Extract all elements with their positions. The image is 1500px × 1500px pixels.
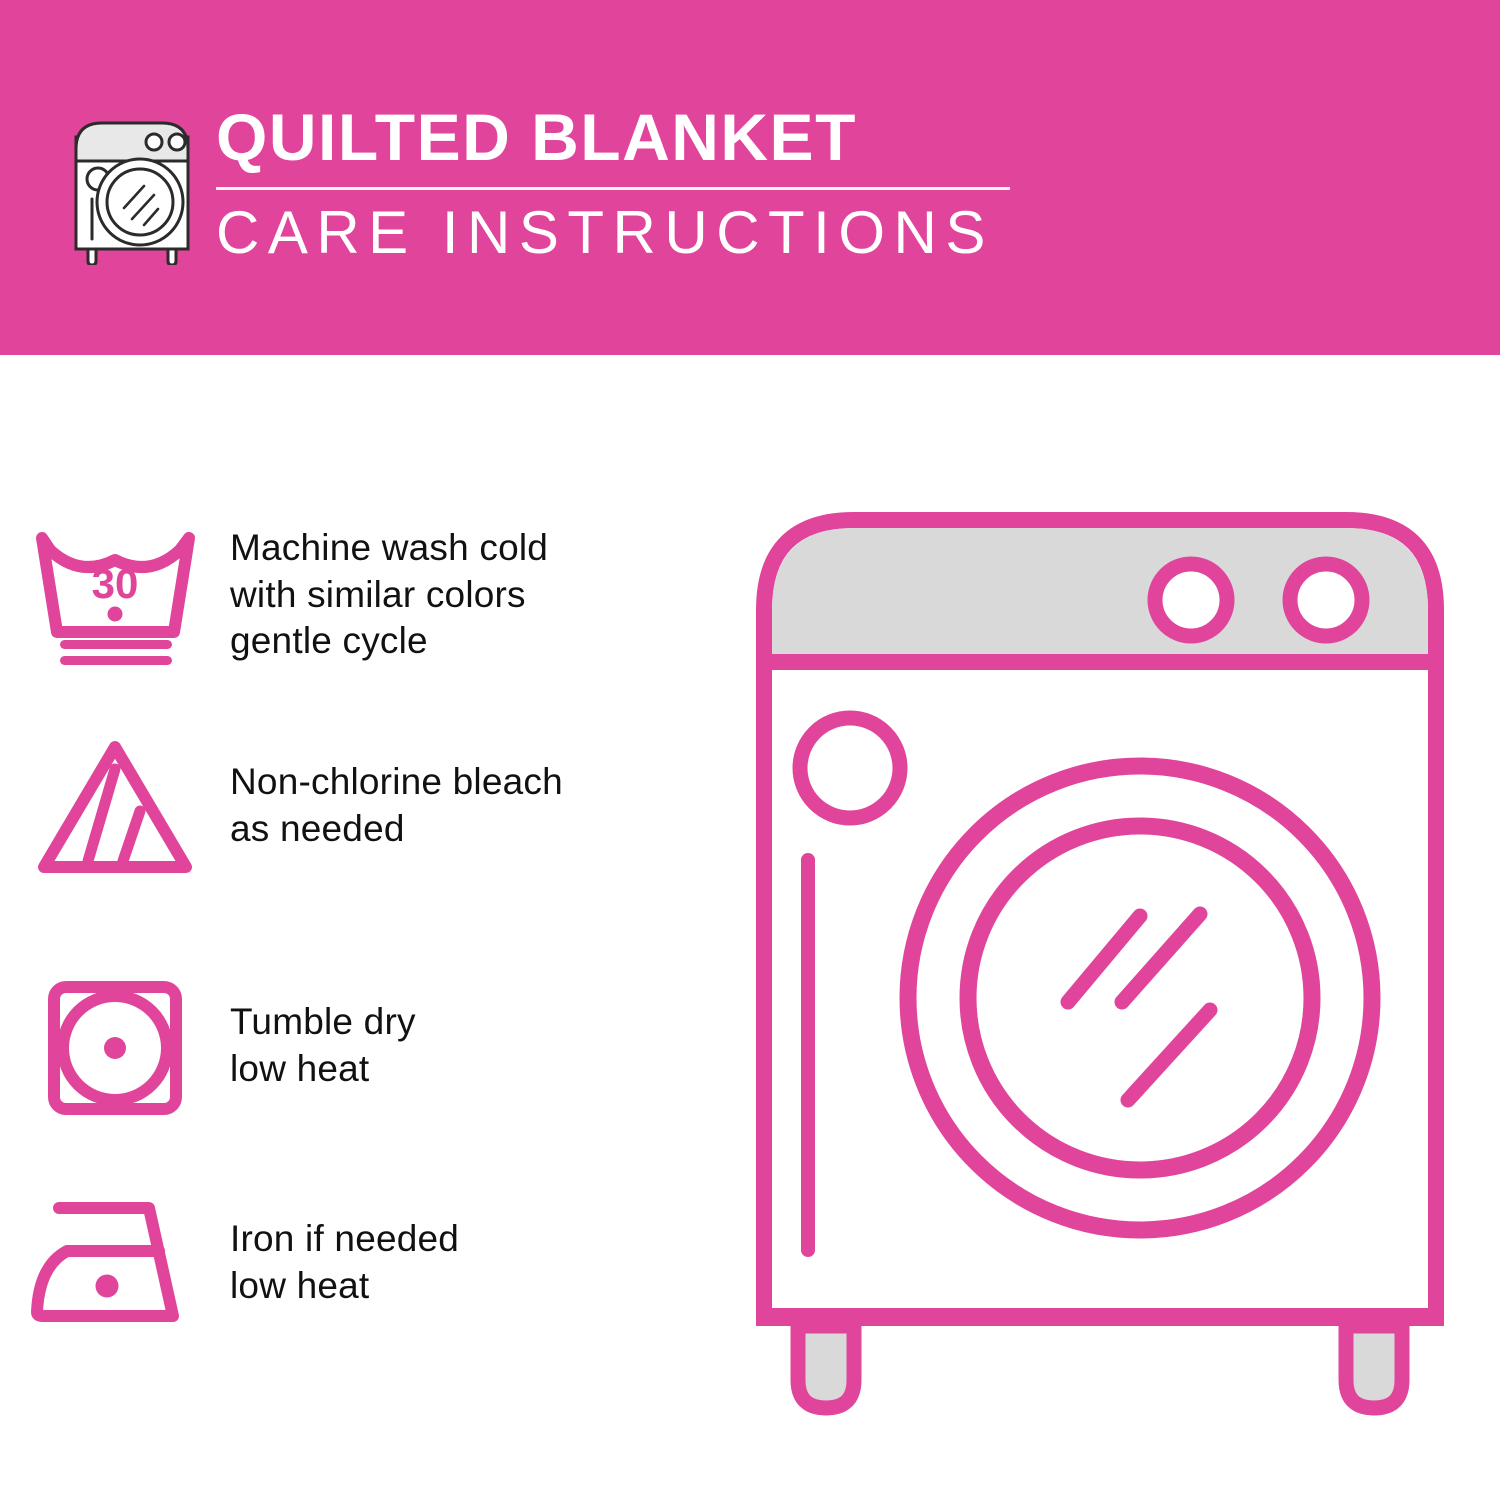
care-text-line: low heat [230, 1046, 416, 1093]
care-text-line: Tumble dry [230, 999, 416, 1046]
care-text-line: low heat [230, 1263, 459, 1310]
iron-low-heat-icon [0, 1188, 230, 1338]
care-row-bleach: Non-chlorine bleach as needed [0, 723, 720, 888]
care-instructions-infographic: QUILTED BLANKET CARE INSTRUCTIONS 30 [0, 0, 1500, 1500]
tumble-dry-low-icon [0, 971, 230, 1121]
care-row-tumble-dry: Tumble dry low heat [0, 963, 720, 1128]
care-text-line: gentle cycle [230, 618, 548, 665]
wash-basin-30-gentle-icon: 30 [0, 520, 230, 670]
knob-left [1155, 564, 1227, 636]
title-divider [216, 187, 1010, 190]
wash-temperature-label: 30 [91, 560, 138, 607]
washing-machine-icon [62, 105, 202, 265]
care-row-wash: 30 Machine wash cold with similar colors… [0, 505, 720, 685]
care-text-line: Non-chlorine bleach [230, 759, 563, 806]
header-text-block: QUILTED BLANKET CARE INSTRUCTIONS [216, 104, 1016, 263]
care-text-tumble-dry: Tumble dry low heat [230, 999, 416, 1092]
care-text-line: as needed [230, 806, 563, 853]
page-subtitle: CARE INSTRUCTIONS [216, 203, 1016, 263]
leg-right [1346, 1326, 1402, 1408]
page-title: QUILTED BLANKET [216, 104, 1016, 170]
care-text-line: Machine wash cold [230, 525, 548, 572]
care-instruction-list: 30 Machine wash cold with similar colors… [0, 355, 720, 1500]
care-text-bleach: Non-chlorine bleach as needed [230, 759, 563, 852]
non-chlorine-bleach-triangle-icon [0, 731, 230, 881]
care-text-wash: Machine wash cold with similar colors ge… [230, 525, 548, 665]
care-row-iron: Iron if needed low heat [0, 1185, 720, 1340]
care-text-line: with similar colors [230, 572, 548, 619]
knob-right [1290, 564, 1362, 636]
leg-left [798, 1326, 854, 1408]
care-text-line: Iron if needed [230, 1216, 459, 1263]
washing-machine-illustration [740, 490, 1460, 1440]
header-banner: QUILTED BLANKET CARE INSTRUCTIONS [0, 0, 1500, 355]
door-latch [800, 718, 900, 818]
care-text-iron: Iron if needed low heat [230, 1216, 459, 1309]
